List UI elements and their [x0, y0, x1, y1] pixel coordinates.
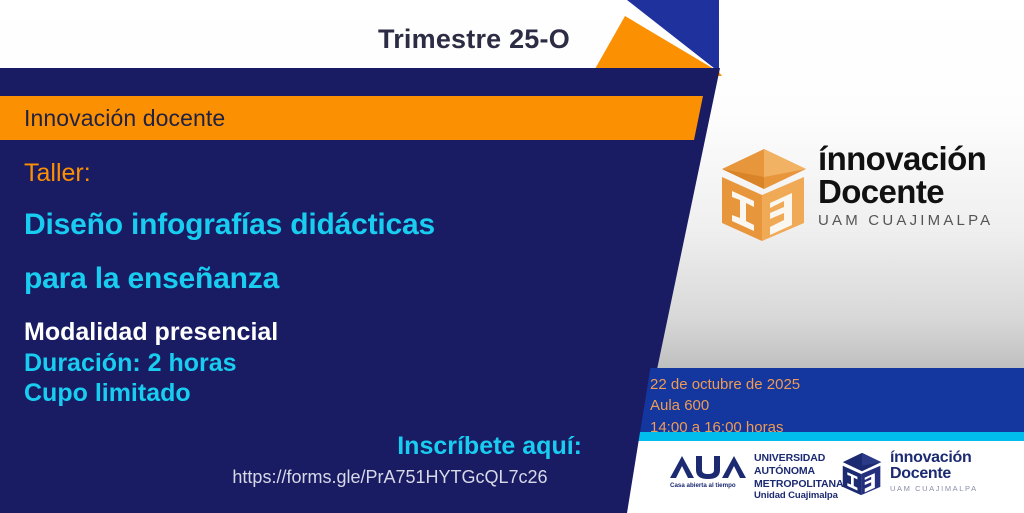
page-title: Trimestre 25-O: [378, 24, 570, 55]
workshop-duration: Duración: 2 horas: [24, 348, 584, 378]
poster-canvas: Trimestre 25-O Innovación docente 22 de …: [0, 0, 1024, 513]
uam-line-1: UNIVERSIDAD: [754, 452, 844, 465]
footer-brand-line-1: ínnovación: [890, 450, 978, 466]
footer-brand-line-2: Docente: [890, 466, 978, 482]
innovacion-docente-wordmark: ínnovación Docente UAM CUAJIMALPA: [818, 143, 993, 229]
workshop-title-line-1: Diseño infografías didácticas: [24, 210, 584, 240]
uam-line-4: Unidad Cuajimalpa: [754, 490, 844, 502]
uam-line-3: METROPOLITANA: [754, 478, 844, 491]
footer-brand-line-3: UAM CUAJIMALPA: [890, 484, 978, 493]
footer-innovacion-docente-logo: ínnovación Docente UAM CUAJIMALPA: [840, 450, 1000, 498]
workshop-kicker: Taller:: [24, 160, 584, 188]
registration-block: Inscríbete aquí: https://forms.gle/PrA75…: [180, 432, 600, 488]
uam-tagline: Casa abierta al tiempo: [670, 482, 736, 489]
innovacion-docente-cube-icon: [718, 147, 810, 243]
uam-wordmark: UNIVERSIDAD AUTÓNOMA METROPOLITANA Unida…: [754, 452, 844, 502]
section-band-label: Innovación docente: [0, 105, 225, 132]
event-date: 22 de octubre de 2025: [650, 374, 800, 395]
innovacion-docente-logo: ínnovación Docente UAM CUAJIMALPA: [718, 143, 988, 248]
uam-line-2: AUTÓNOMA: [754, 465, 844, 478]
event-details-lines: 22 de octubre de 2025 Aula 600 14:00 a 1…: [650, 374, 800, 438]
event-details-box: 22 de octubre de 2025 Aula 600 14:00 a 1…: [600, 368, 1024, 432]
workshop-content: Taller: Diseño infografías didácticas pa…: [24, 160, 584, 408]
registration-label: Inscríbete aquí:: [180, 432, 600, 461]
workshop-title-line-2: para la enseñanza: [24, 264, 584, 294]
cyan-divider-stripe: [600, 432, 1024, 441]
brand-line-1: ínnovación: [818, 143, 993, 175]
event-room: Aula 600: [650, 395, 800, 416]
workshop-capacity: Cupo limitado: [24, 378, 584, 408]
brand-line-3: UAM CUAJIMALPA: [818, 212, 993, 229]
workshop-modality: Modalidad presencial: [24, 318, 584, 347]
section-band: Innovación docente: [0, 96, 712, 140]
registration-url-link[interactable]: https://forms.gle/PrA751HYTGcQL7c26: [180, 467, 600, 488]
uam-logo: Casa abierta al tiempo UNIVERSIDAD AUTÓN…: [668, 452, 820, 496]
brand-line-2: Docente: [818, 175, 993, 208]
footer-innovacion-docente-cube-icon: [840, 452, 884, 496]
footer-brand-wordmark: ínnovación Docente UAM CUAJIMALPA: [890, 450, 978, 493]
